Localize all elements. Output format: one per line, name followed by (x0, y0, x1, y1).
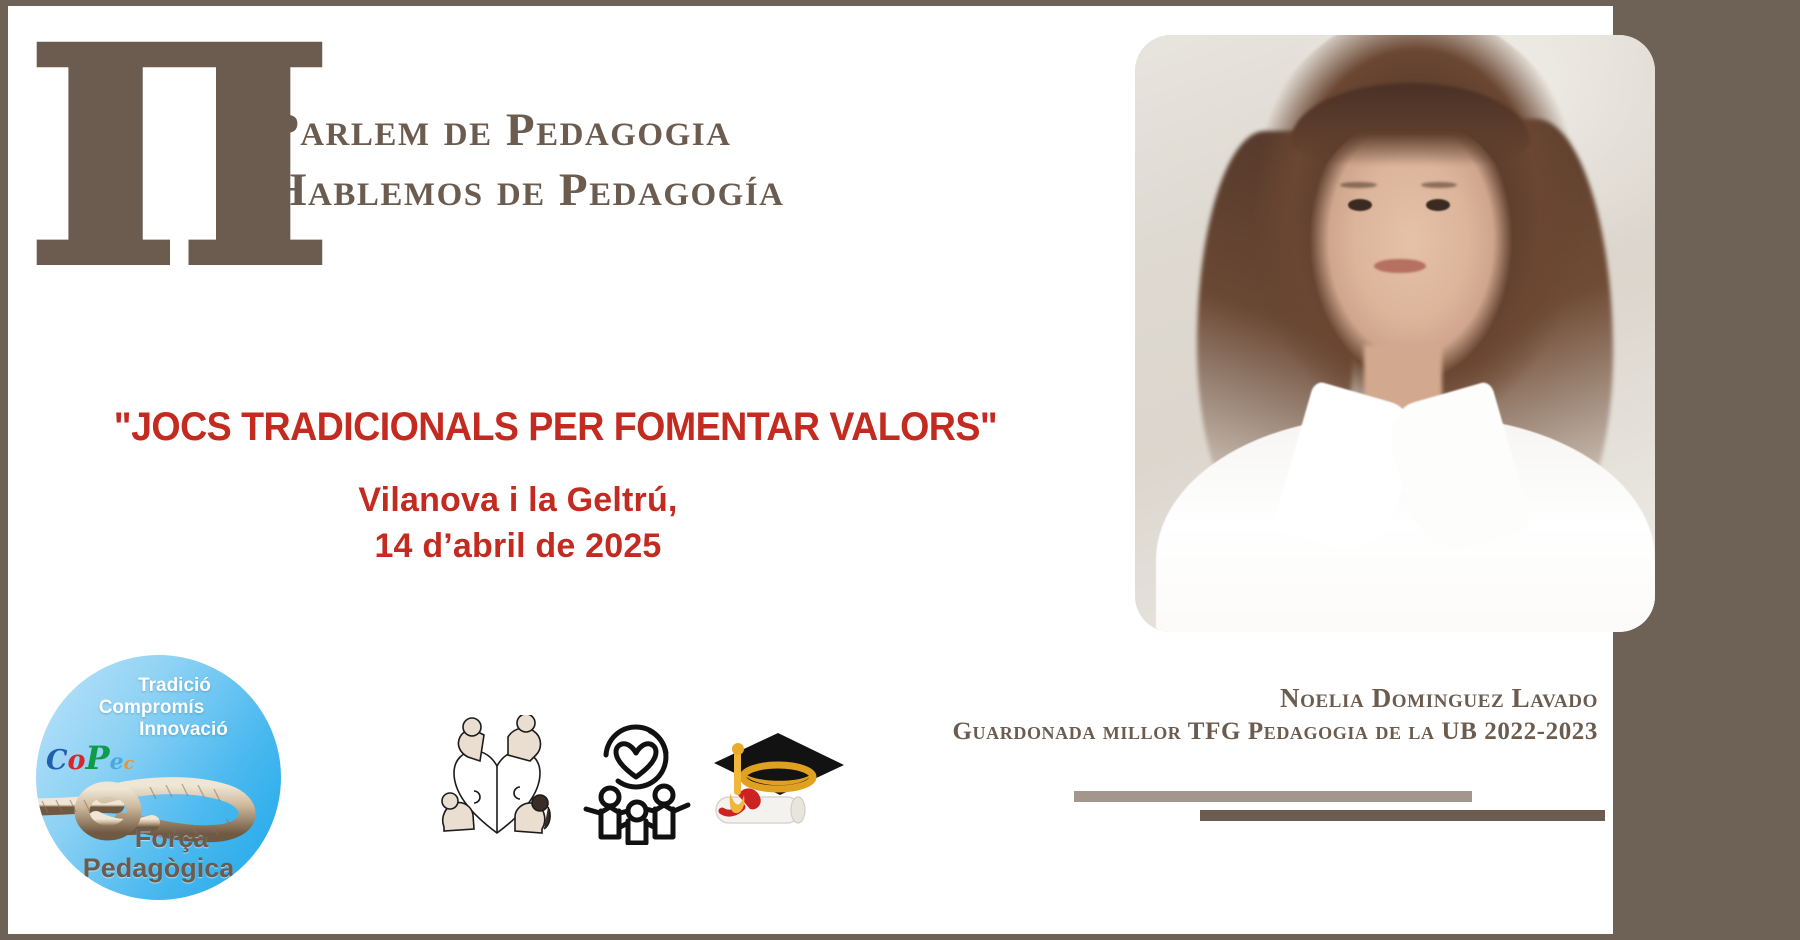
speaker-photo (1135, 35, 1655, 632)
logo-force-line1: Força (36, 823, 281, 853)
program-title-block: Parlem de Pedagogia Hablemos de Pedagogí… (270, 100, 785, 220)
talk-title: "JOCS TRADICIONALS PER FOMENTAR VALORS" (114, 405, 922, 450)
logo-force-line2: Pedagògica (36, 853, 281, 883)
family-heart-icon (582, 715, 692, 845)
photo-eyebrow-right (1421, 182, 1457, 188)
logo-force-text: Força Pedagògica (36, 823, 281, 883)
logo-slogan-tradicio: Tradició (36, 675, 281, 697)
speaker-name: Noelia Dominguez Lavado (953, 682, 1598, 716)
decorative-bar-light (1074, 791, 1472, 802)
logo-slogan-compromis: Compromís (36, 697, 281, 719)
copec-logo: Tradició Compromís Innovació CoPec (36, 655, 281, 900)
logo-slogan-innovacio: Innovació (36, 719, 281, 741)
speaker-credits: Noelia Dominguez Lavado Guardonada millo… (953, 682, 1598, 747)
value-icons-row (430, 715, 830, 845)
photo-eyebrow-left (1340, 182, 1376, 188)
graduation-cap-diploma-icon (708, 715, 848, 845)
poster-canvas: π Parlem de Pedagogia Hablemos de Pedago… (0, 0, 1800, 940)
event-date: 14 d’abril de 2025 (88, 524, 948, 570)
event-location-date: Vilanova i la Geltrú, 14 d’abril de 2025 (88, 478, 948, 569)
program-title-catalan: Parlem de Pedagogia (270, 100, 785, 160)
decorative-bar-dark (1200, 810, 1605, 821)
people-heart-puzzle-icon (430, 715, 565, 845)
event-location: Vilanova i la Geltrú, (88, 478, 948, 524)
speaker-award: Guardonada millor TFG Pedagogia de la UB… (953, 716, 1598, 747)
program-title-spanish: Hablemos de Pedagogía (270, 160, 785, 220)
